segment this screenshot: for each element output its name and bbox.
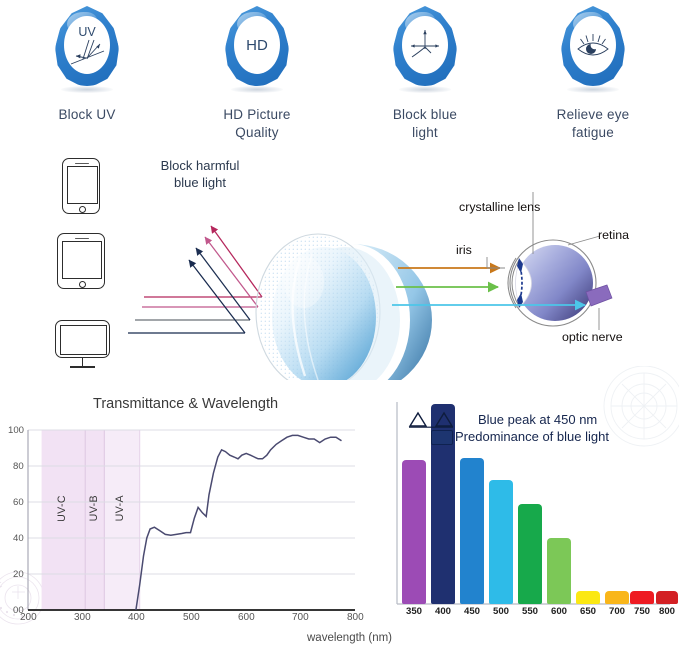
- bar-450: [460, 458, 484, 604]
- bar-tick-450: 450: [457, 606, 487, 617]
- crystalline-lens-label: crystalline lens: [459, 200, 540, 214]
- hd-text-glyph: HD: [234, 16, 280, 74]
- optic-nerve-label: optic nerve: [562, 330, 623, 344]
- drop-shadow: [231, 86, 283, 93]
- y-tick-40: 40: [13, 533, 24, 544]
- bar-600: [547, 538, 571, 604]
- bar-tick-600: 600: [544, 606, 574, 617]
- diagram-svg: [0, 140, 679, 380]
- x-tick-400: 400: [128, 612, 145, 623]
- blue-light-blocking-diagram: Block harmfulblue light: [0, 140, 679, 380]
- drop-shadow: [567, 86, 619, 93]
- bar-tick-800: 800: [652, 606, 679, 617]
- bar-550: [518, 504, 542, 604]
- bar-750: [630, 591, 654, 604]
- feature-icon-row: UV Block UV: [0, 0, 679, 140]
- feature-label: Block bluelight: [340, 106, 510, 142]
- y-tick-100: 100: [8, 425, 24, 436]
- uv-shield-icon: UV: [47, 4, 127, 94]
- y-tick-60: 60: [13, 497, 24, 508]
- blue-predominance-annotation: Predominance of blue light: [455, 429, 609, 444]
- eyeglass-lens-graphic: [256, 234, 432, 380]
- feature-label: Relieve eyefatigue: [508, 106, 678, 142]
- uv-glyph-text: UV: [78, 25, 96, 39]
- y-tick-20: 20: [13, 569, 24, 580]
- charts-section: Transmittance & Wavelength: [0, 380, 679, 654]
- uv-a-label: UV-A: [114, 495, 126, 521]
- bar-tick-550: 550: [515, 606, 545, 617]
- infographic-page: UV Block UV: [0, 0, 679, 654]
- hd-glyph-text: HD: [246, 37, 268, 54]
- bar-350: [402, 460, 426, 604]
- iris-label: iris: [456, 243, 472, 257]
- bar-800: [656, 591, 678, 604]
- eye-glyph: [570, 16, 616, 74]
- x-tick-800: 800: [347, 612, 364, 623]
- square-marker: [431, 430, 453, 445]
- uv-c-label: UV-C: [56, 495, 68, 522]
- eye-lashes-icon: [553, 4, 633, 94]
- bar-tick-500: 500: [486, 606, 516, 617]
- feature-label: HD PictureQuality: [172, 106, 342, 142]
- feature-relieve-eye-fatigue: Relieve eyefatigue: [508, 4, 678, 142]
- blue-peak-annotation: Blue peak at 450 nm: [478, 412, 597, 427]
- bar-650: [576, 591, 600, 604]
- uv-rays-glyph: UV: [64, 16, 110, 74]
- blue-light-rays-glyph: [402, 16, 448, 74]
- x-tick-300: 300: [74, 612, 91, 623]
- x-tick-600: 600: [238, 612, 255, 623]
- drop-shadow: [61, 86, 113, 93]
- bar-tick-400: 400: [428, 606, 458, 617]
- hd-quality-icon: HD: [217, 4, 297, 94]
- bar-500: [489, 480, 513, 604]
- triangle-marker-1: [410, 413, 426, 426]
- uv-b-label: UV-B: [88, 495, 100, 521]
- bar-700: [605, 591, 629, 604]
- retina-label: retina: [598, 228, 629, 242]
- drop-shadow: [399, 86, 451, 93]
- pupil-crescent: [586, 44, 596, 54]
- feature-label: Block UV: [2, 106, 172, 124]
- bar-tick-650: 650: [573, 606, 603, 617]
- feature-hd-quality: HD HD PictureQuality: [172, 4, 342, 142]
- feature-block-blue-light: Block bluelight: [340, 4, 510, 142]
- feature-block-uv: UV Block UV: [2, 4, 172, 124]
- block-blue-light-icon: [385, 4, 465, 94]
- triangle-marker-2: [436, 413, 452, 426]
- x-tick-200: 200: [20, 612, 37, 623]
- y-tick-80: 80: [13, 461, 24, 472]
- transmittance-curve: [136, 435, 342, 610]
- triangle-markers: [408, 410, 468, 430]
- bar-tick-350: 350: [399, 606, 429, 617]
- x-tick-700: 700: [292, 612, 309, 623]
- x-tick-500: 500: [183, 612, 200, 623]
